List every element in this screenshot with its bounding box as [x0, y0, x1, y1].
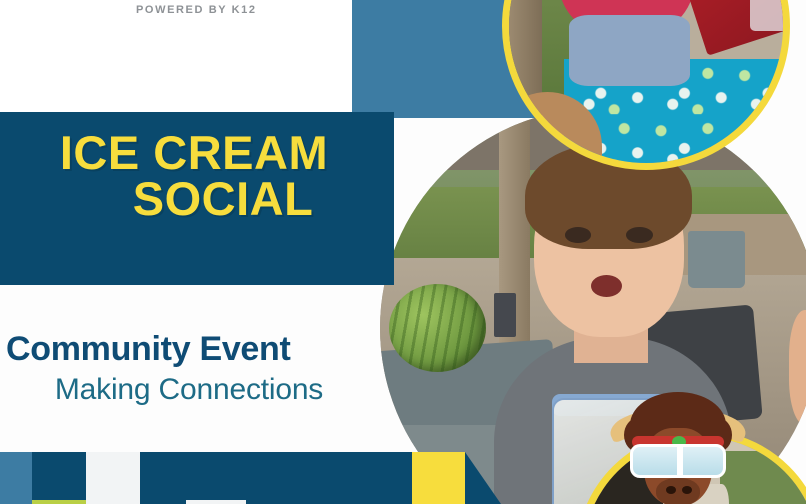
bison-mascot-icon: [612, 392, 744, 504]
page-title: ICE CREAM SOCIAL: [0, 130, 394, 222]
child-pouring-milk-carton-photo: BADGERS: [502, 0, 790, 170]
photo-boy-eye-left: [565, 227, 591, 243]
bar-accent-lime: [32, 500, 86, 504]
flyer-canvas: BADGERS: [0, 0, 806, 504]
photo-boy-eye-right: [626, 227, 652, 243]
tr-photo-water-jug: [750, 0, 790, 31]
bar-block-navy-1: [32, 452, 86, 504]
headline-line-1: ICE CREAM: [0, 130, 394, 176]
subtitle-secondary: Making Connections: [0, 373, 400, 407]
photo-bucket: [688, 231, 745, 288]
bar-block-yellow: [412, 452, 465, 504]
subtitle-block: Community Event Making Connections: [0, 330, 400, 407]
mascot-nostril-left: [666, 486, 676, 494]
mascot-goggles: [630, 444, 726, 478]
swoosh-logo-icon: [38, 0, 138, 24]
bottom-decorative-bar: [0, 452, 480, 504]
bar-block-white: [86, 452, 140, 504]
mascot-nostril-right: [682, 486, 692, 494]
mascot-snout: [656, 478, 700, 504]
tr-photo-jeans: [569, 15, 690, 86]
headline-panel: ICE CREAM SOCIAL: [0, 112, 394, 285]
bar-block-steel: [0, 452, 32, 504]
bar-block-navy-2: [140, 452, 412, 504]
photo-watermelon: [389, 284, 486, 372]
photo-other-person-arm: [789, 310, 806, 424]
bar-accent-white: [186, 500, 246, 504]
subtitle-primary: Community Event: [0, 330, 400, 369]
photo-can: [494, 293, 516, 337]
header-bar: POWERED BY K12: [0, 0, 352, 112]
headline-line-2: SOCIAL: [0, 176, 394, 222]
powered-by-label: POWERED BY K12: [136, 4, 257, 16]
